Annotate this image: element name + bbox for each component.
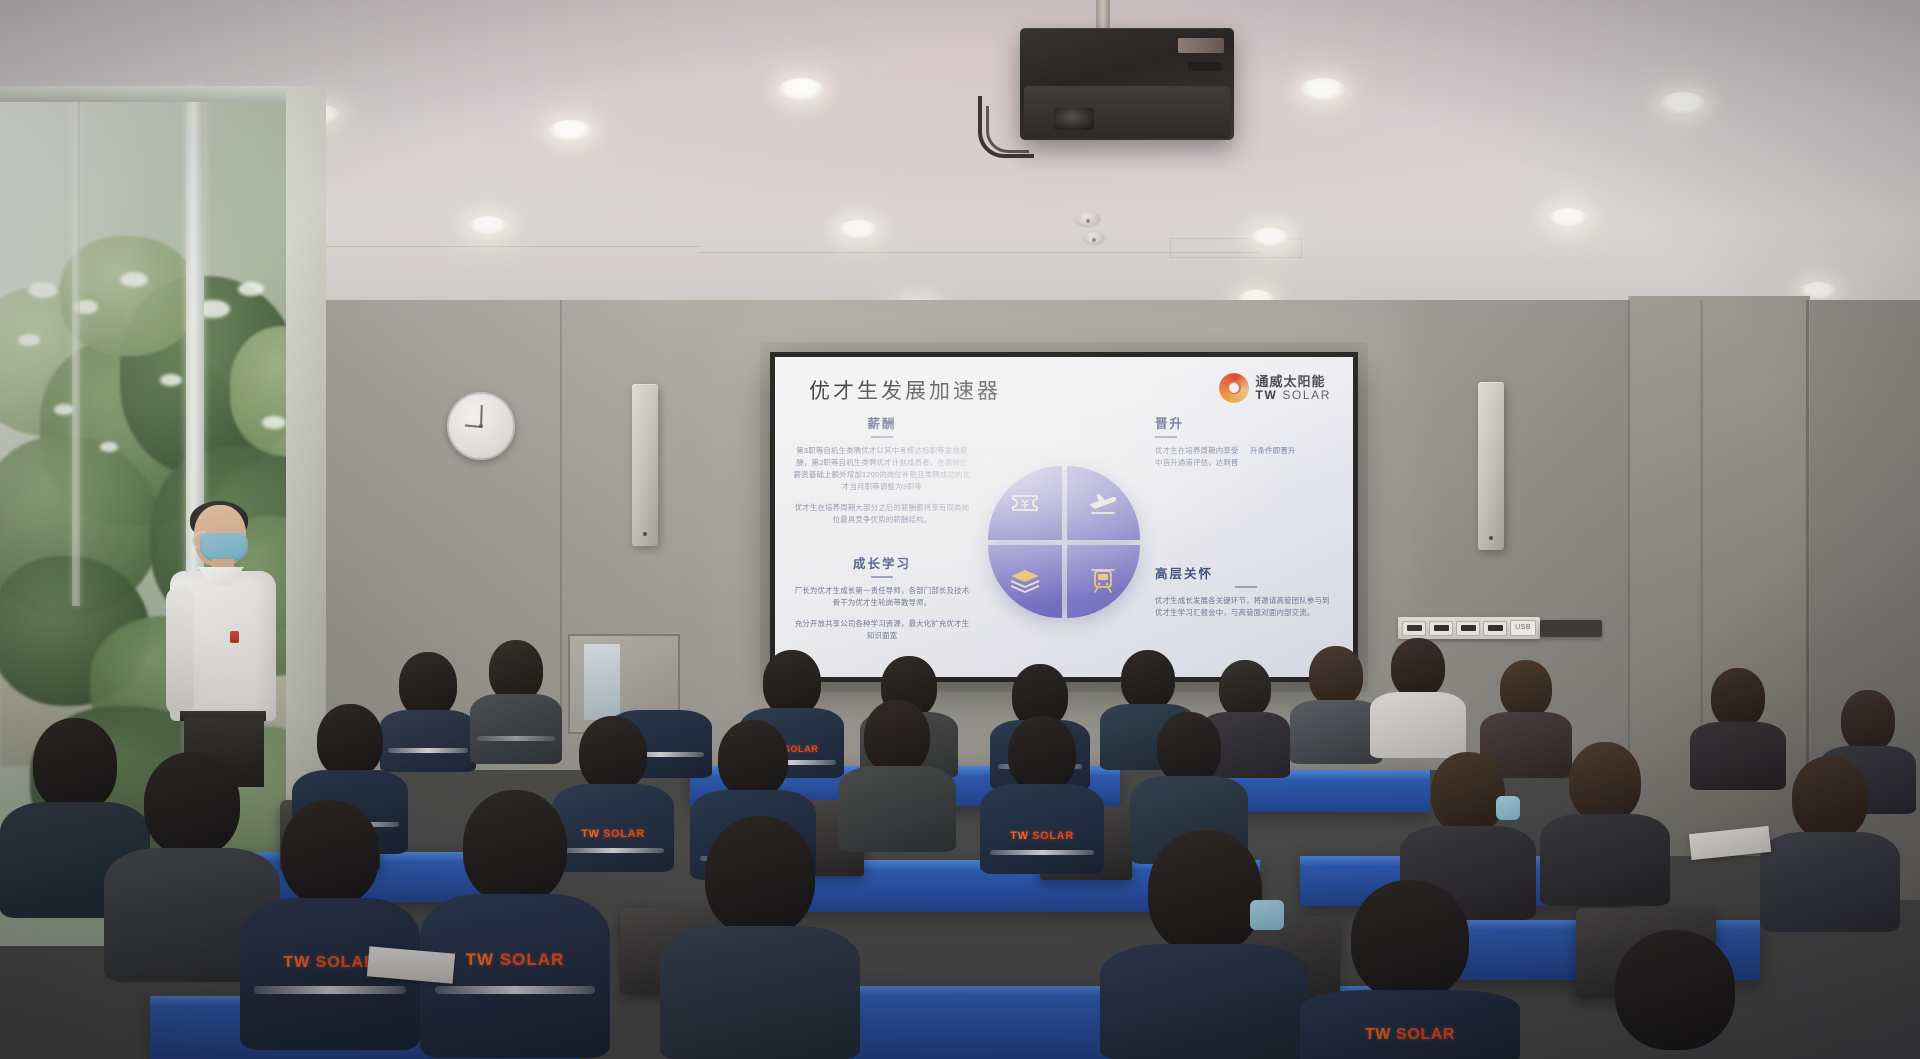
ceiling-downlight (548, 120, 592, 142)
face-mask (1250, 900, 1284, 930)
audience-member (1560, 930, 1790, 1059)
section-paragraph: 优才生在培养周期大部分之后的薪酬都将享有同类岗位最具竞争优势的薪酬结构。 (793, 502, 971, 526)
ceiling-downlight (838, 220, 878, 240)
logo-tw: TW (1256, 388, 1278, 402)
section-rule (1235, 586, 1257, 588)
ceiling-downlight (1250, 228, 1290, 247)
audience-member: TW SOLAR (420, 790, 610, 1058)
audience-member (1540, 742, 1670, 906)
section-paragraph: 第3职等自机生类聘优才以其中考核达标职等发放薪酬，第2职等自机生类聘优才计划成员… (793, 445, 971, 493)
audience-member: TW SOLAR (1300, 880, 1520, 1059)
projection-screen: 优才生发展加速器 通威太阳能 TW SOLAR 薪酬 第3职等自机生类聘优才以其… (770, 352, 1358, 682)
presenter-name-badge (230, 631, 239, 643)
slide-section-growth-learning: 成长学习 厂长为优才生成长第一责任导师，各部门部长及技术骨干为优才生轮岗带教导师… (793, 553, 971, 642)
projector-lens (1054, 108, 1094, 130)
money-voucher-icon (1008, 488, 1042, 518)
audience-member (1290, 646, 1382, 764)
section-rule (871, 436, 893, 438)
wheel-quadrant-promotion (1067, 466, 1141, 540)
projector-vent (1188, 62, 1222, 71)
section-paragraph: 厂长为优才生成长第一责任导师，各部门部长及技术骨干为优才生轮岗带教导师。 (793, 585, 971, 609)
section-heading-promotion: 晋升 (1155, 413, 1337, 432)
section-rule (871, 576, 893, 578)
ceiling-downlight (778, 78, 824, 101)
audience-member (470, 640, 562, 764)
usb-port-label[interactable]: USB (1510, 620, 1536, 636)
training-room-photo: USB 优才生发展加速器 (0, 0, 1920, 1059)
section-paragraph: 优才生成长发展各关键环节，将邀请高管团队参与到优才生学习汇报会中，与高管面对面内… (1155, 595, 1337, 619)
audience-member: TW SOLAR (240, 800, 420, 1050)
projector-cable (986, 106, 1029, 153)
section-heading-growth-learning: 成长学习 (793, 553, 971, 572)
slide-section-compensation: 薪酬 第3职等自机生类聘优才以其中考核达标职等发放薪酬，第2职等自机生类聘优才计… (793, 413, 971, 526)
company-logo: 通威太阳能 TW SOLAR (1219, 373, 1331, 403)
audience-member: TW SOLAR (980, 716, 1104, 874)
ceiling-downlight (1660, 92, 1706, 115)
ceiling-downlight (1300, 78, 1346, 101)
audience-member (1370, 638, 1466, 758)
power-socket[interactable] (1483, 621, 1507, 636)
presenter-arm (166, 587, 194, 715)
section-rule (1155, 436, 1177, 438)
ceiling-projector (1020, 28, 1234, 140)
wheel-quadrant-compensation (988, 466, 1062, 540)
right-wall-speaker (1478, 382, 1504, 550)
left-wall-speaker (632, 384, 658, 546)
sun-swirl-icon (1219, 373, 1249, 403)
face-mask (1496, 796, 1520, 820)
slide-title: 优才生发展加速器 (809, 375, 1001, 405)
projector-brand-badge (1178, 38, 1224, 53)
slide-section-promotion: 晋升 优才生在培养周期内享受中首升通道评估，达到晋升条件即晋升 (1155, 413, 1337, 469)
audience-member (1100, 830, 1310, 1059)
section-heading-executive-care: 高层关怀 (1155, 563, 1337, 582)
logo-english-name: TW SOLAR (1256, 389, 1331, 401)
smoke-detector (1084, 232, 1104, 243)
wall-clock (447, 392, 515, 460)
panel-seam (1700, 300, 1703, 730)
power-socket[interactable] (1429, 621, 1453, 636)
audience-member (660, 816, 860, 1059)
presentation-slide: 优才生发展加速器 通威太阳能 TW SOLAR 薪酬 第3职等自机生类聘优才以其… (775, 357, 1353, 677)
stacked-books-icon (1008, 566, 1042, 596)
power-socket[interactable] (1456, 621, 1480, 636)
section-heading-compensation: 薪酬 (793, 413, 971, 432)
section-paragraph: 优才生在培养周期内享受中首升通道评估，达到晋升条件即晋升 (1155, 445, 1337, 469)
standing-presenter (168, 505, 278, 785)
wheel-quadrant-executive-care (1067, 545, 1141, 619)
clock-hub (479, 424, 483, 428)
slide-section-executive-care: 高层关怀 优才生成长发展各关键环节，将邀请高管团队参与到优才生学习汇报会中，与高… (1155, 563, 1337, 619)
train-icon (1086, 566, 1120, 596)
section-paragraph: 充分开放共享公司各种学习资源，最大化扩充优才生知识面宽 (793, 618, 971, 642)
four-quadrant-wheel (988, 466, 1140, 618)
logo-solar: SOLAR (1282, 388, 1331, 402)
airplane-takeoff-icon (1086, 488, 1120, 518)
ceiling-downlight (468, 216, 508, 236)
logo-chinese-name: 通威太阳能 (1256, 375, 1331, 388)
ceiling-downlight (1548, 208, 1588, 228)
window-head-frame (0, 86, 326, 102)
wall-power-outlet-strip[interactable]: USB (1398, 617, 1540, 639)
power-socket[interactable] (1402, 621, 1426, 636)
audience-member (1760, 756, 1900, 932)
presenter-face-mask (200, 533, 248, 561)
wheel-quadrant-growth-learning (988, 545, 1062, 619)
smoke-detector (1076, 212, 1100, 225)
wall-dark-fixture (1540, 620, 1602, 637)
window-mullion (72, 86, 80, 606)
